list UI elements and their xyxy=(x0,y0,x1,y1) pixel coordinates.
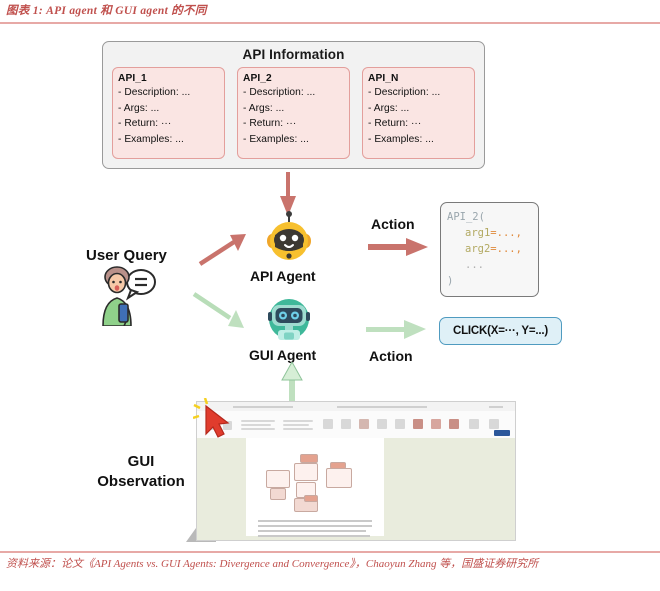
word-page xyxy=(246,438,384,536)
mouse-cursor-icon xyxy=(193,398,237,442)
word-share-button xyxy=(494,430,510,436)
api-information-panel: API Information API_1 - Description: ...… xyxy=(102,41,485,169)
api-card-name: API_2 xyxy=(243,72,349,85)
api-card-line: - Description: ... xyxy=(368,85,474,101)
arrow-user-to-gui-agent-icon xyxy=(190,288,250,332)
user-person-icon xyxy=(97,264,157,326)
api-card-line: - Examples: ... xyxy=(368,132,474,148)
api-call-code-box: API_2( arg1=..., arg2=..., ... ) xyxy=(440,202,539,297)
gui-agent-label: GUI Agent xyxy=(249,347,316,363)
code-arg2-name: arg2 xyxy=(465,243,490,255)
word-ribbon xyxy=(197,411,515,439)
api-card-line: - Description: ... xyxy=(118,85,224,101)
code-arg1-name: arg1 xyxy=(465,227,490,239)
api-card: API_1 - Description: ... - Args: ... - R… xyxy=(112,67,225,159)
api-agent-label: API Agent xyxy=(250,268,315,284)
api-card-list: API_1 - Description: ... - Args: ... - R… xyxy=(112,67,475,159)
arrow-right-green-icon xyxy=(366,318,428,340)
api-card-name: API_1 xyxy=(118,72,224,85)
api-card-line: - Examples: ... xyxy=(118,132,224,148)
api-card-line: - Args: ... xyxy=(243,101,349,117)
api-card-line: - Return: ··· xyxy=(243,116,349,132)
gui-agent-robot-icon xyxy=(264,294,314,344)
api-card-line: - Args: ... xyxy=(368,101,474,117)
api-agent-robot-icon xyxy=(263,211,315,263)
code-ellipsis: ... xyxy=(465,259,484,271)
click-action-box: CLICK(X=···, Y=...) xyxy=(439,317,562,345)
word-right-margin xyxy=(469,438,515,540)
document-figure xyxy=(264,454,366,512)
api-card-line: - Description: ... xyxy=(243,85,349,101)
user-query-label: User Query xyxy=(86,247,167,264)
api-card: API_2 - Description: ... - Args: ... - R… xyxy=(237,67,350,159)
arrow-user-to-api-agent-icon xyxy=(196,232,250,268)
click-action-text: CLICK(X=···, Y=...) xyxy=(453,325,548,337)
api-action-label: Action xyxy=(371,216,415,232)
up-arrow-green-icon xyxy=(281,362,303,404)
gui-observation-label: GUI Observation xyxy=(88,452,194,492)
gui-action-label: Action xyxy=(369,348,413,364)
api-card-line: - Return: ··· xyxy=(118,116,224,132)
header-divider xyxy=(0,22,660,24)
gui-observation-line1: GUI xyxy=(88,452,194,472)
api-card-line: - Examples: ... xyxy=(243,132,349,148)
api-card: API_N - Description: ... - Args: ... - R… xyxy=(362,67,475,159)
source-note: 资料来源：论文《API Agents vs. GUI Agents: Diver… xyxy=(6,556,654,572)
code-function-name: API_2( xyxy=(447,211,485,223)
api-information-title: API Information xyxy=(103,47,484,62)
gui-observation-line2: Observation xyxy=(88,472,194,492)
word-document-area xyxy=(197,438,515,540)
code-arg2-value: =..., xyxy=(490,243,522,255)
code-close-paren: ) xyxy=(447,275,453,287)
api-card-name: API_N xyxy=(368,72,474,85)
api-card-line: - Args: ... xyxy=(118,101,224,117)
footer-divider xyxy=(0,551,660,553)
api-card-line: - Return: ··· xyxy=(368,116,474,132)
arrow-right-red-icon xyxy=(368,236,430,258)
code-arg1-value: =..., xyxy=(490,227,522,239)
page-title: 图表 1: API agent 和 GUI agent 的不同 xyxy=(6,2,207,18)
gui-screenshot-thumbnail xyxy=(196,401,516,541)
